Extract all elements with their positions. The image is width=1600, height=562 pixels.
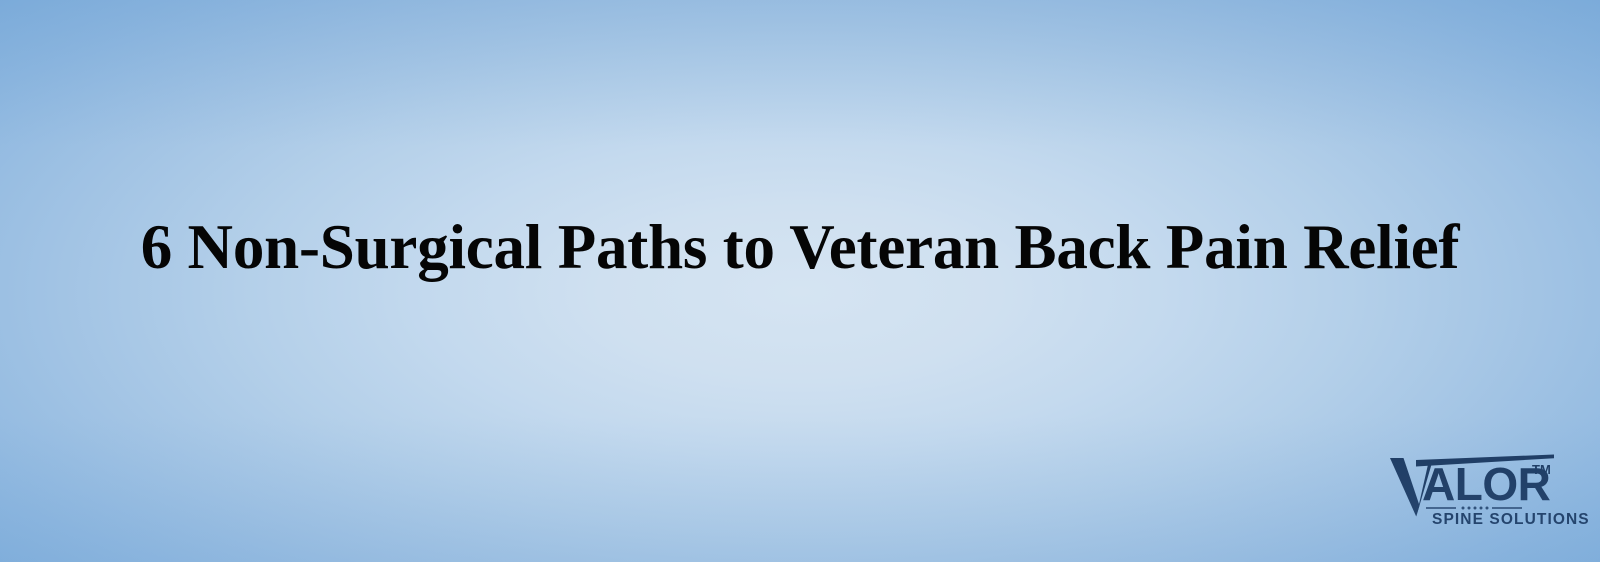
valor-spine-solutions-logo[interactable]: ALOR TM SPINE SOLUTIONS xyxy=(1386,448,1562,528)
article-hero-banner: 6 Non-Surgical Paths to Veteran Back Pai… xyxy=(0,0,1600,562)
logo-mark-icon: ALOR TM SPINE SOLUTIONS xyxy=(1386,448,1562,528)
logo-trademark-text: TM xyxy=(1532,462,1551,477)
logo-divider-left-icon xyxy=(1426,507,1456,509)
page-title: 6 Non-Surgical Paths to Veteran Back Pai… xyxy=(0,214,1600,280)
logo-divider-right-icon xyxy=(1492,507,1522,509)
logo-tagline-text: SPINE SOLUTIONS xyxy=(1432,511,1590,528)
logo-v-left-stroke-icon xyxy=(1390,458,1420,517)
